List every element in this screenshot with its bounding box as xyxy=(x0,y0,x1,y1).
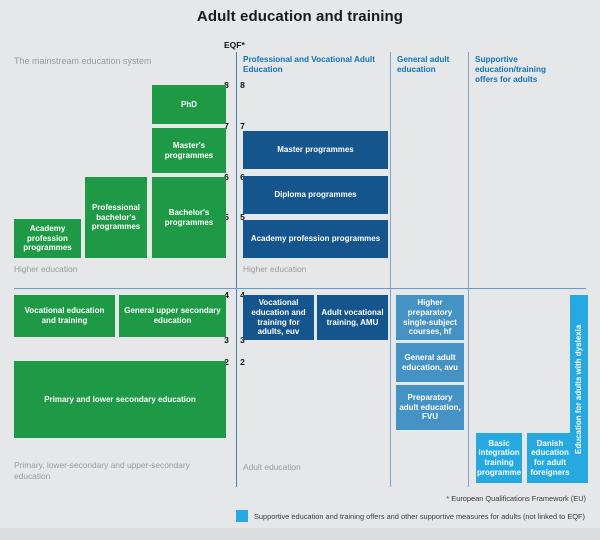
column-divider-supportive xyxy=(468,52,469,487)
box-vocational-education-and-training[interactable]: Vocational education and training xyxy=(14,295,115,337)
caption-higher-education-left: Higher education xyxy=(14,264,214,275)
box-danish-education-for-adult-foreigners[interactable]: Danish education for adult foreigners xyxy=(527,433,573,483)
box-general-adult-education-avu[interactable]: General adult education, avu xyxy=(396,343,464,382)
box-preparatory-adult-education-fvu[interactable]: Preparatory adult education, FVU xyxy=(396,385,464,430)
page-title: Adult education and training xyxy=(0,8,600,25)
legend-label-supportive: Supportive education and training offers… xyxy=(254,512,585,521)
box-basic-integration-training-programme[interactable]: Basic integration training programme xyxy=(476,433,522,483)
box-academy-profession-programmes-mainstream[interactable]: Academy profession programmes xyxy=(14,219,81,258)
diagram-canvas: Adult education and training The mainstr… xyxy=(0,0,600,540)
box-vocational-education-training-for-adults-euv[interactable]: Vocational education and training for ad… xyxy=(243,295,314,340)
bottom-strip xyxy=(0,528,600,540)
column-header-mainstream: The mainstream education system xyxy=(14,56,214,66)
eqf-tick-7-right: 7 xyxy=(238,121,247,131)
box-diploma-programmes[interactable]: Diploma programmes xyxy=(243,176,388,214)
box-general-upper-secondary-education[interactable]: General upper secondary education xyxy=(119,295,226,337)
column-header-supportive: Supportive education/training offers for… xyxy=(475,55,550,85)
caption-adult-education: Adult education xyxy=(243,462,383,473)
legend-swatch-cyan xyxy=(236,510,248,522)
eqf-axis-label: EQF* xyxy=(224,40,245,50)
box-primary-and-lower-secondary-education[interactable]: Primary and lower secondary education xyxy=(14,361,226,438)
legend-supportive: Supportive education and training offers… xyxy=(236,510,585,522)
box-professional-bachelors-programmes[interactable]: Professional bachelor's programmes xyxy=(85,177,147,258)
box-bachelors-programmes[interactable]: Bachelor's programmes xyxy=(152,177,226,258)
box-academy-profession-programmes-professional[interactable]: Academy profession programmes xyxy=(243,220,388,258)
column-header-professional: Professional and Vocational Adult Educat… xyxy=(243,55,389,75)
eqf-axis-line xyxy=(236,52,237,487)
box-phd[interactable]: PhD xyxy=(152,85,226,124)
box-education-for-adults-with-dyslexia[interactable]: Education for adults with dyslexia xyxy=(570,295,588,483)
footnote-eqf: * European Qualifications Framework (EU) xyxy=(286,494,586,503)
higher-education-divider xyxy=(14,288,586,289)
box-masters-programmes[interactable]: Master's programmes xyxy=(152,128,226,173)
caption-primary-lower-upper: Primary, lower-secondary and upper-secon… xyxy=(14,460,214,481)
caption-higher-education-right: Higher education xyxy=(243,264,383,275)
box-master-programmes[interactable]: Master programmes xyxy=(243,131,388,169)
column-header-general: General adult education xyxy=(397,55,465,75)
column-divider-general xyxy=(390,52,391,487)
box-higher-preparatory-single-subject-courses-hf[interactable]: Higher preparatory single-subject course… xyxy=(396,295,464,340)
eqf-tick-2-right: 2 xyxy=(238,357,247,367)
eqf-tick-8-right: 8 xyxy=(238,80,247,90)
box-adult-vocational-training-amu[interactable]: Adult vocational training, AMU xyxy=(317,295,388,340)
